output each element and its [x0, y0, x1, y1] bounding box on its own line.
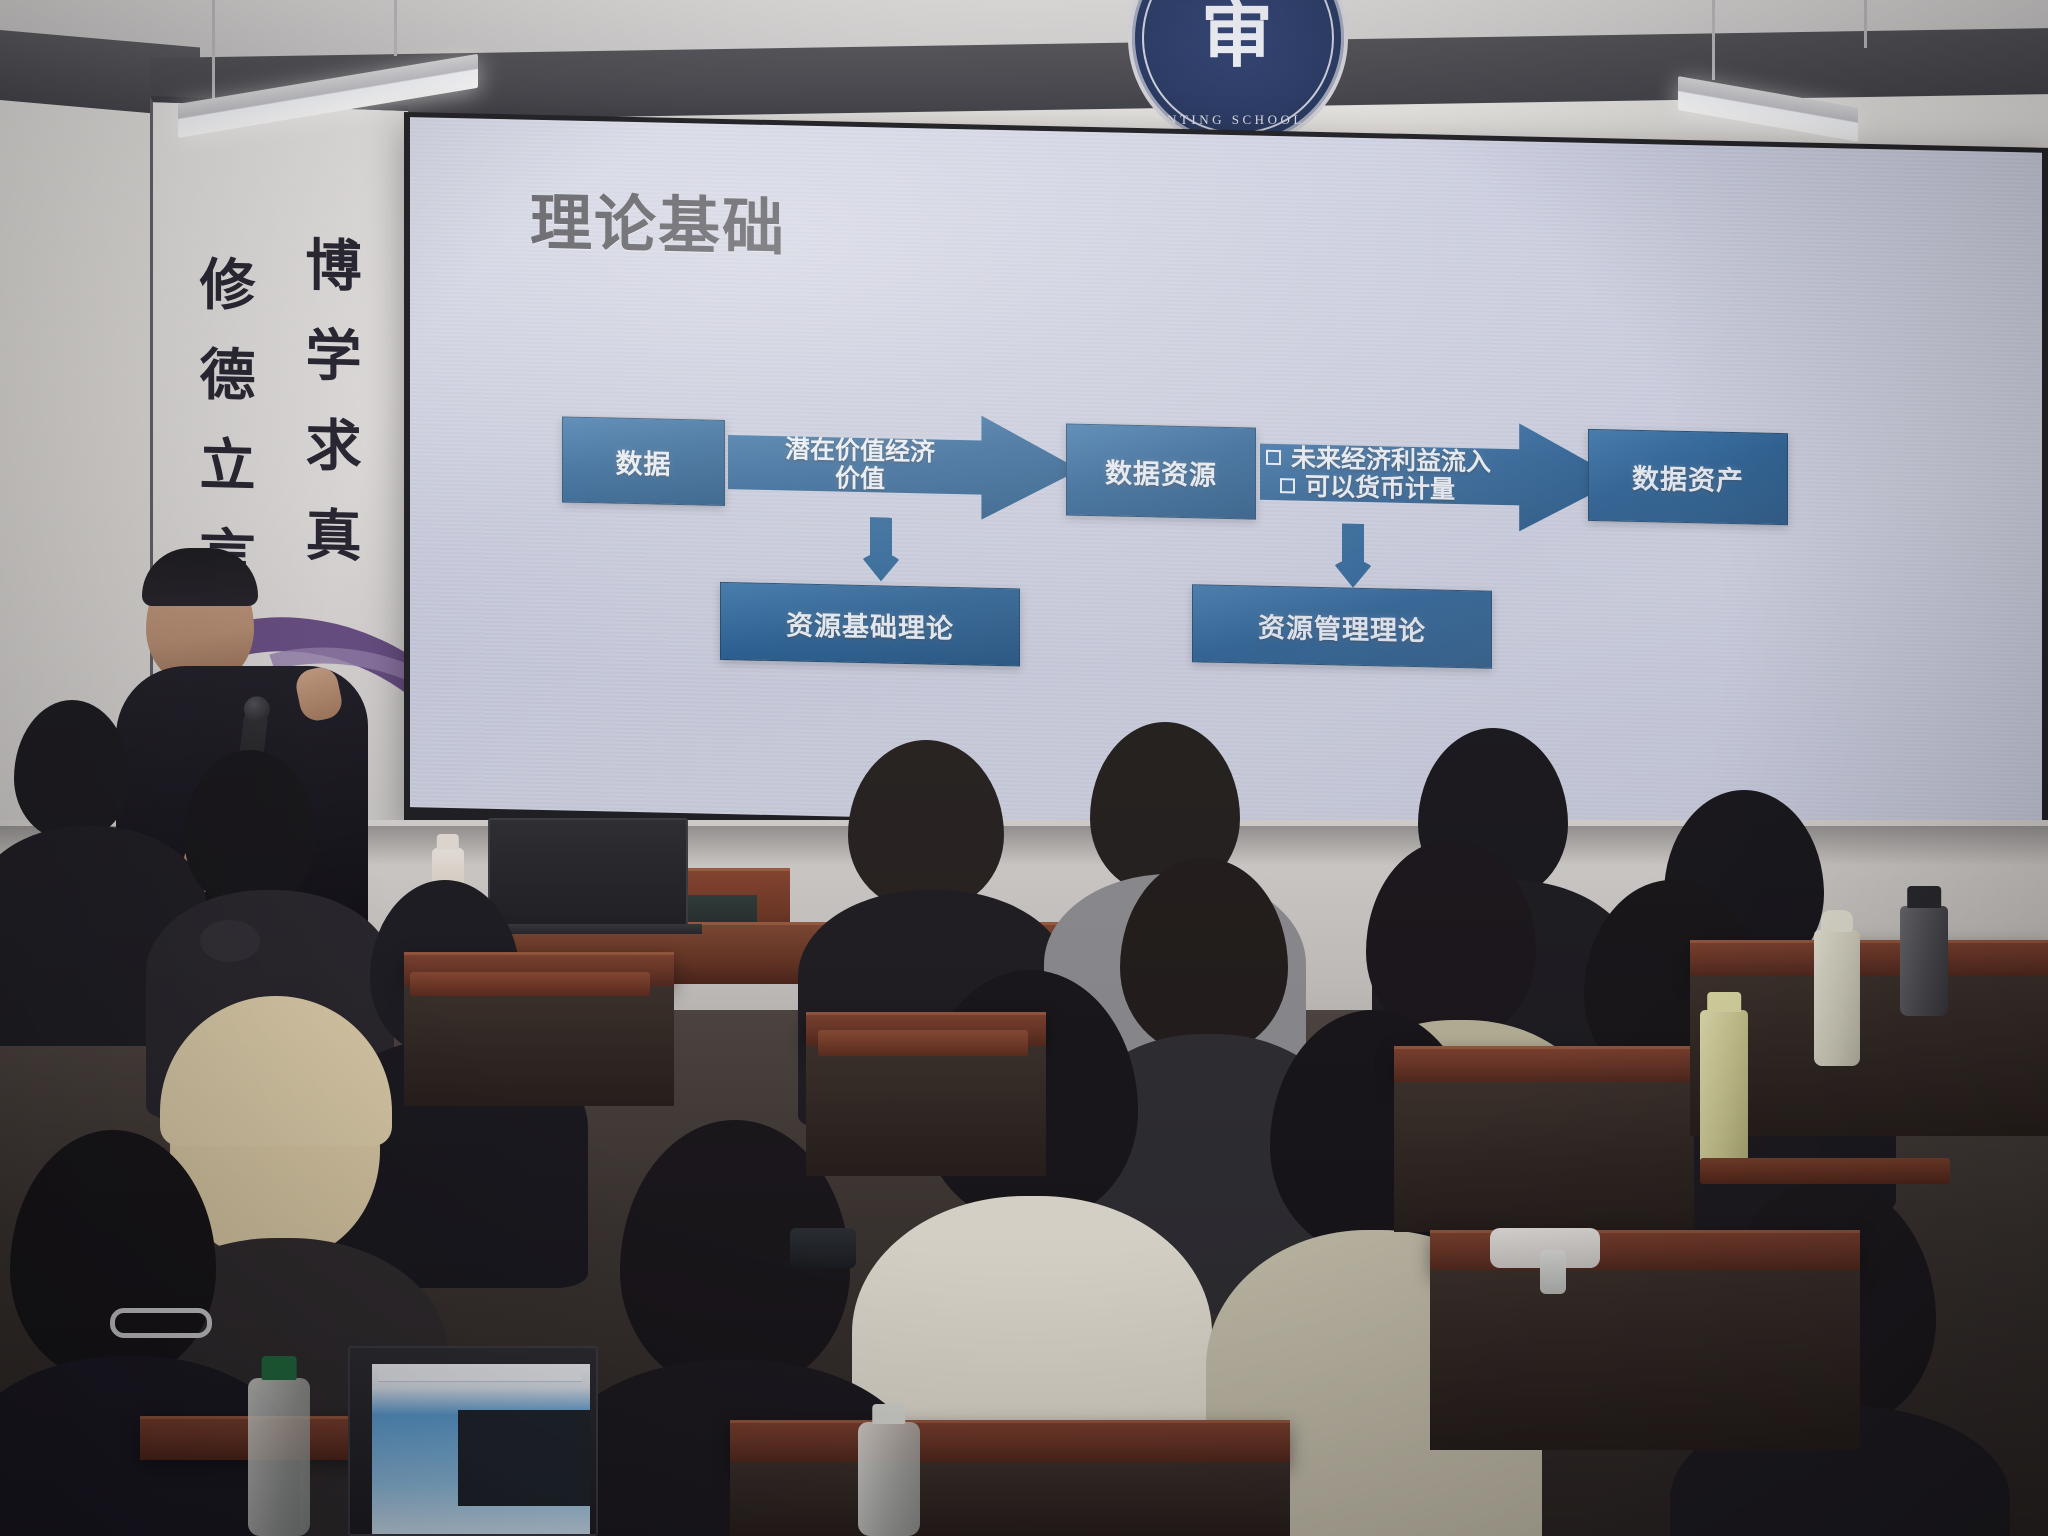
bottle-cap	[262, 1356, 297, 1380]
desk-items	[1540, 1250, 1566, 1294]
person-hair-tie	[200, 920, 260, 962]
chair-back	[410, 972, 650, 996]
bottle-cap	[872, 1404, 905, 1424]
student-desk	[1690, 940, 2048, 978]
thermos-dark	[1900, 906, 1948, 1016]
flow-box-data: 数据	[562, 416, 725, 506]
checkbox-icon	[1266, 450, 1281, 465]
laptop-window-dark	[458, 1410, 590, 1506]
student-desk-front	[1430, 1270, 1860, 1450]
laptop-screen	[372, 1364, 590, 1534]
flow-box-data-resource: 数据资源	[1066, 423, 1256, 519]
lecture-hall-scene: 审 OUNTING SCHOOL OF 博学求真 修德立言 理论基础 数据	[0, 0, 2048, 1536]
person-hair	[160, 996, 392, 1146]
student-desk	[730, 1420, 1290, 1466]
eyeglasses-icon	[110, 1308, 212, 1338]
arrow-head	[1330, 559, 1376, 588]
student-desk-front	[806, 1046, 1046, 1176]
thermos-cream	[1814, 930, 1860, 1066]
flow-box-resource-management-theory: 资源管理理论	[1192, 584, 1492, 669]
bottle-cap	[437, 834, 459, 850]
water-bottle	[248, 1378, 310, 1536]
flow-arrow-line2: 价值	[736, 462, 984, 495]
lamp-cord	[1864, 0, 1867, 48]
bottle-cap	[1907, 886, 1941, 908]
person-head	[10, 1130, 216, 1380]
person-head	[848, 740, 1004, 910]
student-desk-front	[404, 986, 674, 1106]
student-desk-front	[730, 1462, 1290, 1536]
person-head	[14, 700, 130, 840]
water-bottle	[858, 1422, 920, 1536]
laptop-browser-bar	[378, 1368, 582, 1382]
bottle-cap	[1707, 992, 1741, 1012]
student-desk	[1394, 1046, 1694, 1084]
criteria-line-2: 可以货币计量	[1266, 472, 1534, 506]
school-emblem: 审 OUNTING SCHOOL OF	[1128, 0, 1348, 148]
criteria-text-2: 可以货币计量	[1305, 472, 1455, 504]
arrow-head	[858, 553, 904, 582]
flow-arrow-potential-value: 潜在价值经济 价值	[728, 410, 1080, 522]
thermos-yellow	[1700, 1010, 1748, 1170]
chair-back	[1700, 1158, 1950, 1184]
arrow-stem	[870, 517, 892, 555]
lamp-cord	[1712, 0, 1715, 80]
flow-box-resource-based-theory: 资源基础理论	[720, 582, 1020, 667]
arrow-stem	[1342, 523, 1364, 561]
banner-column-right: 博学求真	[301, 235, 357, 596]
bottle-cap	[1821, 910, 1853, 932]
person-head	[184, 750, 316, 908]
emblem-glyph: 审	[1132, 0, 1344, 81]
flow-down-arrow-right	[1330, 523, 1376, 590]
flow-down-arrow-left	[858, 517, 904, 584]
flow-arrow-label: 未来经济利益流入 可以货币计量	[1266, 444, 1534, 506]
flow-arrow-label: 潜在价值经济 价值	[736, 434, 984, 495]
presenter-hair	[142, 548, 258, 606]
lamp-cord	[212, 0, 215, 108]
emblem-ring-text: OUNTING SCHOOL OF	[1132, 112, 1344, 128]
phone	[790, 1228, 856, 1268]
lamp-cord	[394, 0, 397, 56]
checkbox-icon	[1280, 478, 1295, 493]
flow-arrow-recognition-criteria: 未来经济利益流入 可以货币计量	[1260, 418, 1620, 534]
student-desk-front	[1394, 1082, 1694, 1232]
laptop-lid	[348, 1346, 598, 1536]
flow-box-data-asset: 数据资产	[1588, 429, 1788, 525]
chair-back	[818, 1030, 1028, 1056]
